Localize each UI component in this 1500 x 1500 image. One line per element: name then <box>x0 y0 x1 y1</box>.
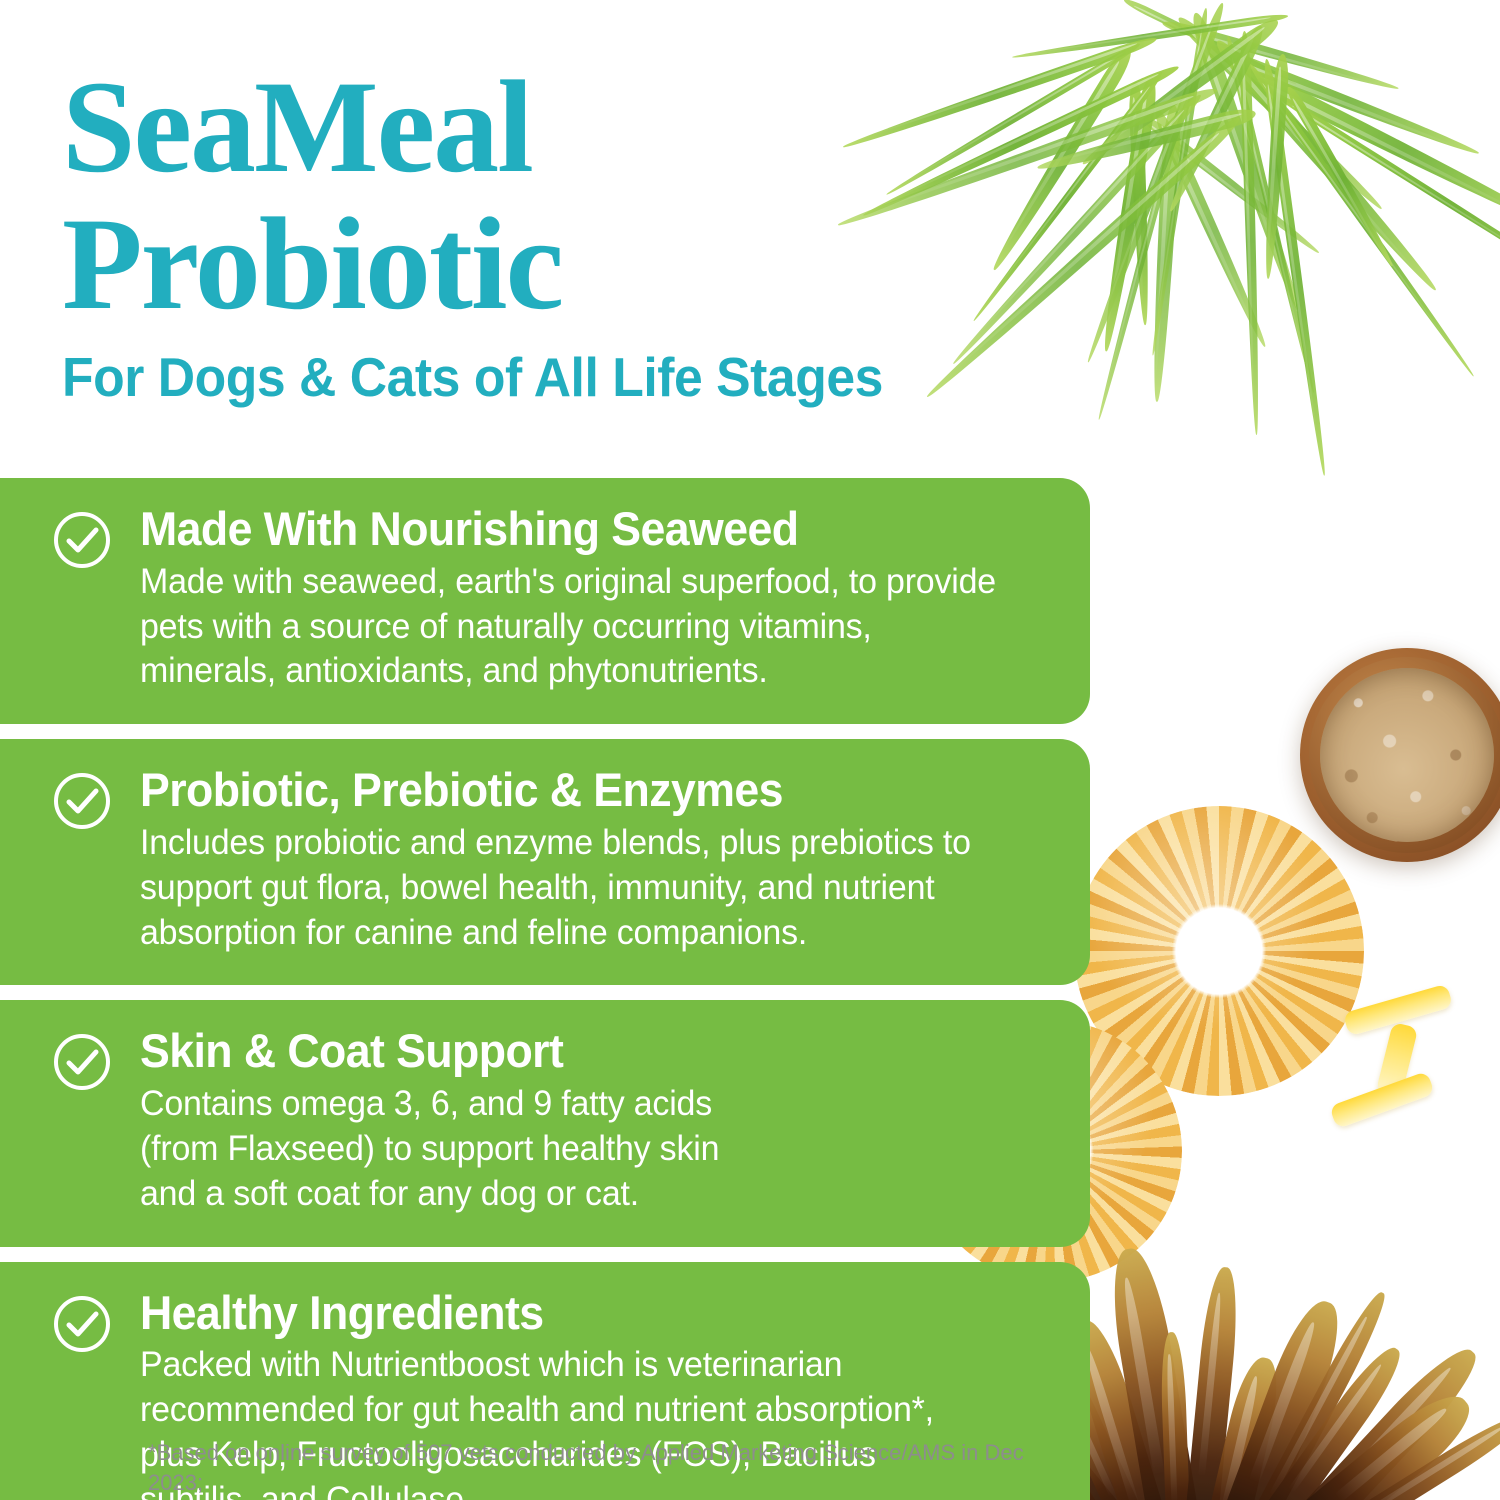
sea-grass-blade <box>1261 53 1290 280</box>
sea-grass-blade <box>1188 10 1306 313</box>
sea-grass-blade <box>1149 8 1210 355</box>
page-subtitle: For Dogs & Cats of All Life Stages <box>62 349 1011 407</box>
citrus-peel-twist-photo <box>1326 992 1476 1144</box>
sea-grass-blade <box>1164 23 1267 215</box>
feature-card-body: Made with seaweed, earth's original supe… <box>140 560 1023 694</box>
peel-segment <box>1343 984 1453 1037</box>
sea-grass-blade <box>1095 99 1188 421</box>
header: SeaMeal Probiotic For Dogs & Cats of All… <box>62 58 1072 406</box>
sea-grass-blade <box>1174 13 1386 214</box>
sea-grass-blade <box>1224 35 1317 394</box>
feature-card: Probiotic, Prebiotic & EnzymesIncludes p… <box>0 739 1090 985</box>
kelp-frond <box>1201 1353 1286 1500</box>
green-sea-grass-photo <box>1080 0 1500 630</box>
sea-grass-blade <box>1211 36 1442 296</box>
sea-grass-blade <box>1078 14 1283 170</box>
sea-grass-blade <box>1011 12 1289 61</box>
sea-grass-blade <box>1083 1 1227 365</box>
check-circle-icon <box>52 1294 112 1354</box>
sea-grass-blade <box>1239 30 1262 435</box>
kelp-frond <box>1103 1245 1200 1500</box>
kelp-frond <box>1295 1382 1482 1500</box>
sea-grass-blade <box>1098 75 1160 354</box>
footnote: *Based on online survey of 507 vets cond… <box>148 1438 1048 1500</box>
wooden-bowl-powder-photo <box>1300 648 1500 862</box>
feature-card-title: Healthy Ingredients <box>140 1288 1005 1338</box>
kelp-frond <box>1255 1339 1410 1500</box>
page-title: SeaMeal Probiotic <box>62 58 1072 333</box>
dried-pineapple-ring-photo-1 <box>1074 806 1364 1096</box>
feature-card-title: Probiotic, Prebiotic & Enzymes <box>140 765 1005 815</box>
feature-card: Skin & Coat SupportContains omega 3, 6, … <box>0 1000 1090 1246</box>
feature-card-body: Includes probiotic and enzyme blends, pl… <box>140 821 1023 955</box>
peel-segment <box>1329 1071 1435 1129</box>
feature-card-title: Made With Nourishing Seaweed <box>140 504 1005 554</box>
peel-segment <box>1376 1022 1419 1098</box>
sea-grass-blade <box>1198 40 1482 160</box>
kelp-frond <box>1159 1332 1191 1500</box>
sea-grass-blade <box>1123 0 1298 88</box>
feature-card: Made With Nourishing SeaweedMade with se… <box>0 478 1090 724</box>
check-circle-icon <box>52 771 112 831</box>
sea-grass-blade <box>1270 89 1500 310</box>
sea-grass-blade <box>1151 107 1271 350</box>
infographic-page: SeaMeal Probiotic For Dogs & Cats of All… <box>0 0 1500 1500</box>
kelp-frond <box>1236 1287 1393 1500</box>
sea-grass-blade <box>1247 62 1477 379</box>
check-circle-icon <box>52 510 112 570</box>
bowl-powder <box>1320 668 1494 842</box>
kelp-frond <box>1274 1338 1487 1500</box>
kelp-frond <box>1219 1293 1352 1500</box>
check-circle-icon <box>52 1032 112 1092</box>
sea-grass-blade <box>1128 81 1152 326</box>
sea-grass-blade <box>1160 18 1400 94</box>
bowl-rim <box>1309 657 1500 853</box>
sea-grass-blade <box>1284 84 1397 269</box>
feature-card-list: Made With Nourishing SeaweedMade with se… <box>0 478 1090 1500</box>
sea-grass-blade <box>1137 111 1322 257</box>
sea-grass-blade <box>1148 104 1182 402</box>
sea-grass-blade <box>1261 58 1330 477</box>
kelp-frond <box>1184 1266 1242 1500</box>
brown-kelp-photo <box>1055 1128 1500 1500</box>
feature-card-body: Contains omega 3, 6, and 9 fatty acids (… <box>140 1082 1023 1216</box>
feature-card-title: Skin & Coat Support <box>140 1026 1005 1076</box>
sea-grass-blade <box>1235 62 1500 233</box>
kelp-frond <box>1308 1407 1500 1500</box>
